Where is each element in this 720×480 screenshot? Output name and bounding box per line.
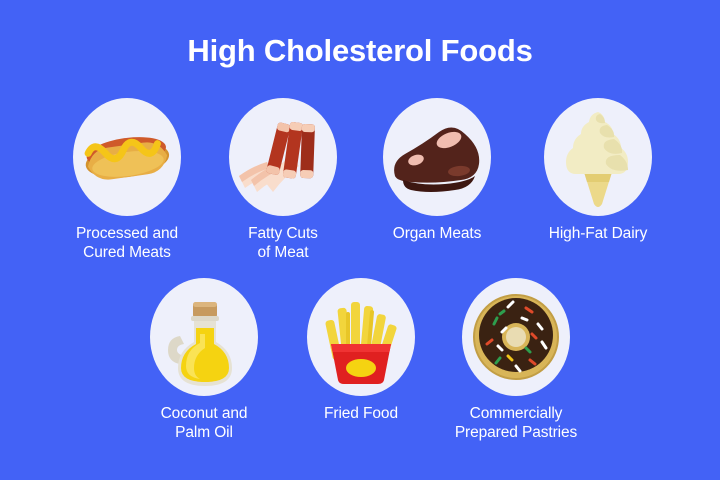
icon-circle <box>73 98 181 216</box>
icon-circle <box>150 278 258 396</box>
page-title: High Cholesterol Foods <box>0 33 720 69</box>
icon-circle <box>383 98 491 216</box>
food-item-fatty-cuts-of-meat: Fatty Cuts of Meat <box>203 98 363 262</box>
icon-circle <box>307 278 415 396</box>
food-item-processed-and-cured-meats: Processed and Cured Meats <box>47 98 207 262</box>
food-item-fried-food: Fried Food <box>281 278 441 423</box>
food-item-label: Coconut and Palm Oil <box>124 404 284 442</box>
food-item-label: Processed and Cured Meats <box>47 224 207 262</box>
food-item-label: High-Fat Dairy <box>518 224 678 243</box>
donut-icon <box>462 278 570 396</box>
food-item-label: Commercially Prepared Pastries <box>436 404 596 442</box>
hot-dog-icon <box>73 98 181 216</box>
french-fries-icon <box>307 278 415 396</box>
food-item-commercially-prepared-pastries: Commercially Prepared Pastries <box>436 278 596 442</box>
icon-circle <box>462 278 570 396</box>
food-item-label: Organ Meats <box>357 224 517 243</box>
food-item-coconut-and-palm-oil: Coconut and Palm Oil <box>124 278 284 442</box>
food-item-label: Fatty Cuts of Meat <box>203 224 363 262</box>
bacon-strips-icon <box>229 98 337 216</box>
food-item-label: Fried Food <box>281 404 441 423</box>
oil-jug-icon <box>150 278 258 396</box>
food-item-high-fat-dairy: High-Fat Dairy <box>518 98 678 243</box>
icon-circle <box>544 98 652 216</box>
liver-icon <box>383 98 491 216</box>
food-item-organ-meats: Organ Meats <box>357 98 517 243</box>
icon-circle <box>229 98 337 216</box>
ice-cream-cone-icon <box>544 98 652 216</box>
infographic-canvas: High Cholesterol Foods Processed and Cur… <box>0 0 720 480</box>
